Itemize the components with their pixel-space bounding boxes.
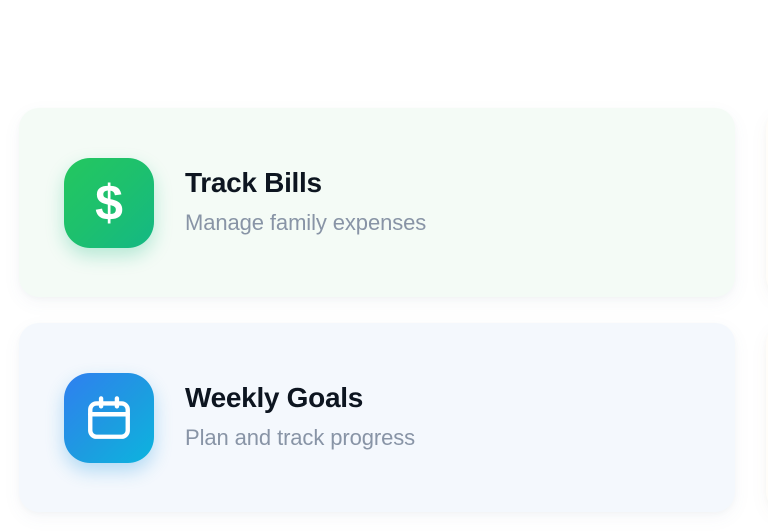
calendar-icon (84, 393, 134, 443)
card-title: Weekly Goals (185, 383, 415, 412)
card-row: Weekly Goals Plan and track progress (0, 323, 768, 512)
dollar-sign-icon-tile: $ (64, 158, 154, 248)
feature-card-track-bills[interactable]: $ Track Bills Manage family expenses (19, 108, 735, 297)
card-text-block: Track Bills Manage family expenses (185, 168, 426, 237)
feature-cards-screen: $ Track Bills Manage family expenses (0, 0, 768, 532)
dollar-sign-icon: $ (95, 178, 123, 228)
feature-card-carousel[interactable]: $ Track Bills Manage family expenses (0, 108, 768, 512)
card-text-block: Weekly Goals Plan and track progress (185, 383, 415, 452)
feature-card-weekly-goals[interactable]: Weekly Goals Plan and track progress (19, 323, 735, 512)
card-title: Track Bills (185, 168, 426, 197)
card-subtitle: Manage family expenses (185, 211, 426, 235)
card-row: $ Track Bills Manage family expenses (0, 108, 768, 297)
card-subtitle: Plan and track progress (185, 426, 415, 450)
calendar-icon-tile (64, 373, 154, 463)
